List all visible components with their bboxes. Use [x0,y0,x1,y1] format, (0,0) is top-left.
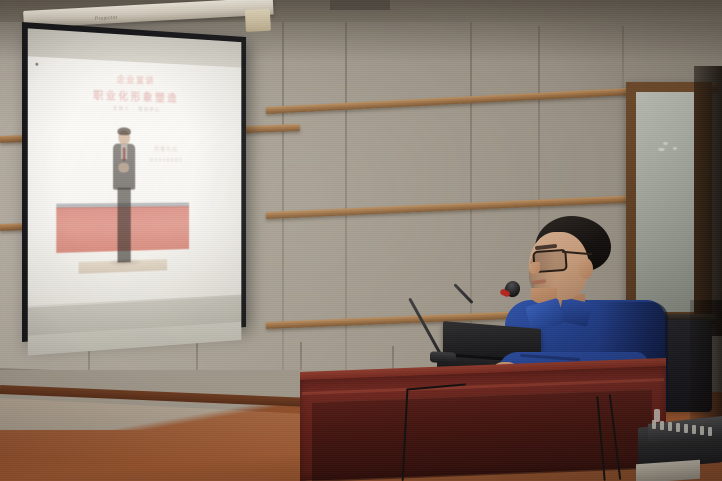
glass-glint [663,142,668,145]
mixer-base-plate [636,460,700,481]
right-corner-shadow [690,300,722,430]
projection-screen[interactable]: 企业宣讲 职业化形象塑造 主讲人 · 培训中心 形象礼仪 商务场合着装规范 [22,22,246,342]
screen-vignette [28,28,242,335]
wall-seam [538,26,540,266]
mixer-tall-knob[interactable] [654,409,660,422]
mixer-knob[interactable] [668,422,672,431]
speaker-nose [529,262,540,274]
mixer-knob[interactable] [660,421,664,430]
frosted-glass-panel [636,92,694,312]
glass-glint [673,147,677,150]
right-wall-shadow [694,66,722,336]
wall-seam [282,22,284,422]
mixer-knob[interactable] [700,426,704,435]
wall-seam [622,26,624,96]
mixer-knob[interactable] [708,427,712,436]
photo-scene: Projector 企业宣讲 职业化形象塑造 主讲人 · 培训中心 形象礼仪 商… [0,0,722,481]
speaker-ear [578,258,593,279]
microphone-base [430,351,456,363]
mixer-knob[interactable] [692,425,696,434]
glass-glint [658,148,665,151]
screen-roller-end-cap [245,9,271,32]
mixer-knob[interactable] [684,424,688,433]
wall-seam [345,22,347,422]
ceiling-vent-icon [330,0,390,10]
mixer-knob[interactable] [676,423,680,432]
